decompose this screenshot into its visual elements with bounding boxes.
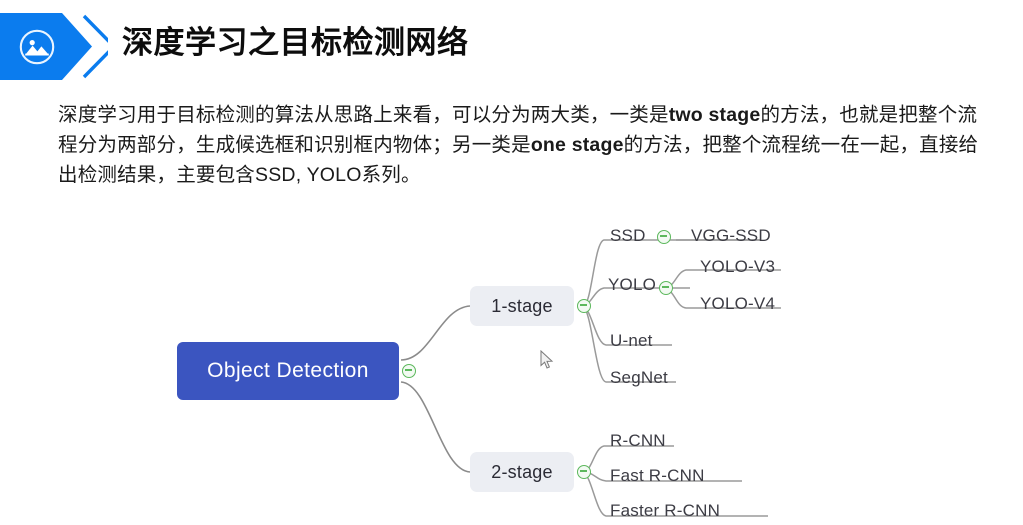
mindmap-canvas: Object Detection 1-stage SSD VGG-SSD YOL…	[0, 200, 1023, 525]
mindmap-node-faster-r-cnn[interactable]: Faster R-CNN	[610, 501, 720, 521]
header-banner: 深度学习之目标检测网络	[0, 0, 1023, 92]
mindmap-node-segnet[interactable]: SegNet	[610, 368, 668, 388]
collapse-toggle-2-stage[interactable]	[577, 465, 591, 479]
image-picture-icon	[18, 28, 56, 66]
collapse-toggle-ssd[interactable]	[657, 230, 671, 244]
mindmap-node-yolo-v4[interactable]: YOLO-V4	[700, 294, 775, 314]
mindmap-node-vgg-ssd[interactable]: VGG-SSD	[691, 226, 771, 246]
node-1-stage-label: 1-stage	[491, 296, 552, 316]
collapse-toggle-root[interactable]	[402, 364, 416, 378]
collapse-toggle-1-stage[interactable]	[577, 299, 591, 313]
mindmap-node-ssd[interactable]: SSD	[610, 226, 646, 246]
mindmap-node-yolo-v3[interactable]: YOLO-V3	[700, 257, 775, 277]
mindmap-node-u-net[interactable]: U-net	[610, 331, 653, 351]
mouse-cursor	[540, 350, 554, 370]
mindmap-node-r-cnn[interactable]: R-CNN	[610, 431, 666, 451]
mindmap-node-yolo[interactable]: YOLO	[608, 275, 656, 295]
collapse-toggle-yolo[interactable]	[659, 281, 673, 295]
mindmap-node-1-stage[interactable]: 1-stage	[470, 286, 574, 326]
node-2-stage-label: 2-stage	[491, 462, 552, 482]
mindmap-root-node[interactable]: Object Detection	[177, 342, 399, 400]
paragraph-segment-1: two stage	[669, 104, 761, 126]
paragraph-segment-3: one stage	[531, 134, 624, 156]
mindmap-node-fast-r-cnn[interactable]: Fast R-CNN	[610, 466, 705, 486]
description-paragraph: 深度学习用于目标检测的算法从思路上来看，可以分为两大类，一类是two stage…	[58, 100, 983, 190]
root-node-label: Object Detection	[207, 359, 369, 382]
paragraph-segment-0: 深度学习用于目标检测的算法从思路上来看，可以分为两大类，一类是	[58, 104, 669, 126]
page-title: 深度学习之目标检测网络	[122, 24, 469, 62]
mindmap-node-2-stage[interactable]: 2-stage	[470, 452, 574, 492]
